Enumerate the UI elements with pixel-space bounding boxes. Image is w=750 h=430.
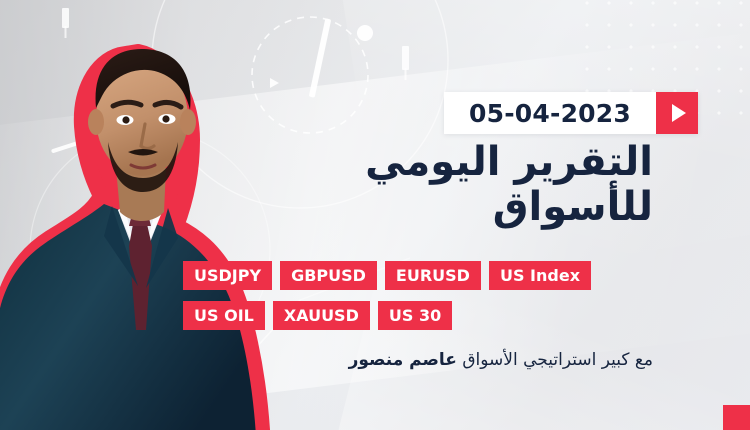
- market-report-banner: 05-04-2023 التقرير اليومي للأسواق USDJPY…: [0, 0, 750, 430]
- date-text: 05-04-2023: [444, 92, 656, 134]
- symbol-badge-list: USDJPY GBPUSD EURUSD US Index US OIL XAU…: [183, 261, 653, 341]
- symbol-badge[interactable]: US Index: [489, 261, 591, 290]
- byline-author-name: عاصم منصور: [349, 350, 457, 370]
- candle-body-decor-b: [402, 46, 409, 70]
- symbol-badge[interactable]: EURUSD: [385, 261, 481, 290]
- symbol-badge[interactable]: GBPUSD: [280, 261, 377, 290]
- play-triangle-icon: [672, 104, 686, 122]
- play-button[interactable]: [656, 92, 698, 134]
- symbol-badge-row-2: US OIL XAUUSD US 30: [183, 301, 653, 330]
- subject-ear-left: [88, 109, 104, 135]
- page-title: التقرير اليومي للأسواق: [233, 142, 653, 228]
- date-badge: 05-04-2023: [444, 92, 698, 134]
- subject-pupil-left: [122, 116, 129, 123]
- symbol-badge[interactable]: USDJPY: [183, 261, 272, 290]
- headline-line-1: التقرير اليومي: [233, 142, 653, 183]
- headline-line-2: للأسواق: [233, 187, 653, 228]
- symbol-badge-row-1: USDJPY GBPUSD EURUSD US Index: [183, 261, 653, 290]
- symbol-badge[interactable]: XAUUSD: [273, 301, 370, 330]
- red-corner-square: [723, 405, 750, 430]
- candle-wick-decor-b: [405, 68, 407, 80]
- byline: مع كبير استراتيجي الأسواق عاصم منصور: [349, 350, 653, 370]
- symbol-badge[interactable]: US 30: [378, 301, 452, 330]
- subject-pupil-right: [162, 115, 169, 122]
- dot-decor-a: [357, 25, 373, 41]
- byline-prefix: مع كبير استراتيجي الأسواق: [462, 350, 653, 370]
- subject-ear-right: [180, 109, 196, 135]
- symbol-badge[interactable]: US OIL: [183, 301, 265, 330]
